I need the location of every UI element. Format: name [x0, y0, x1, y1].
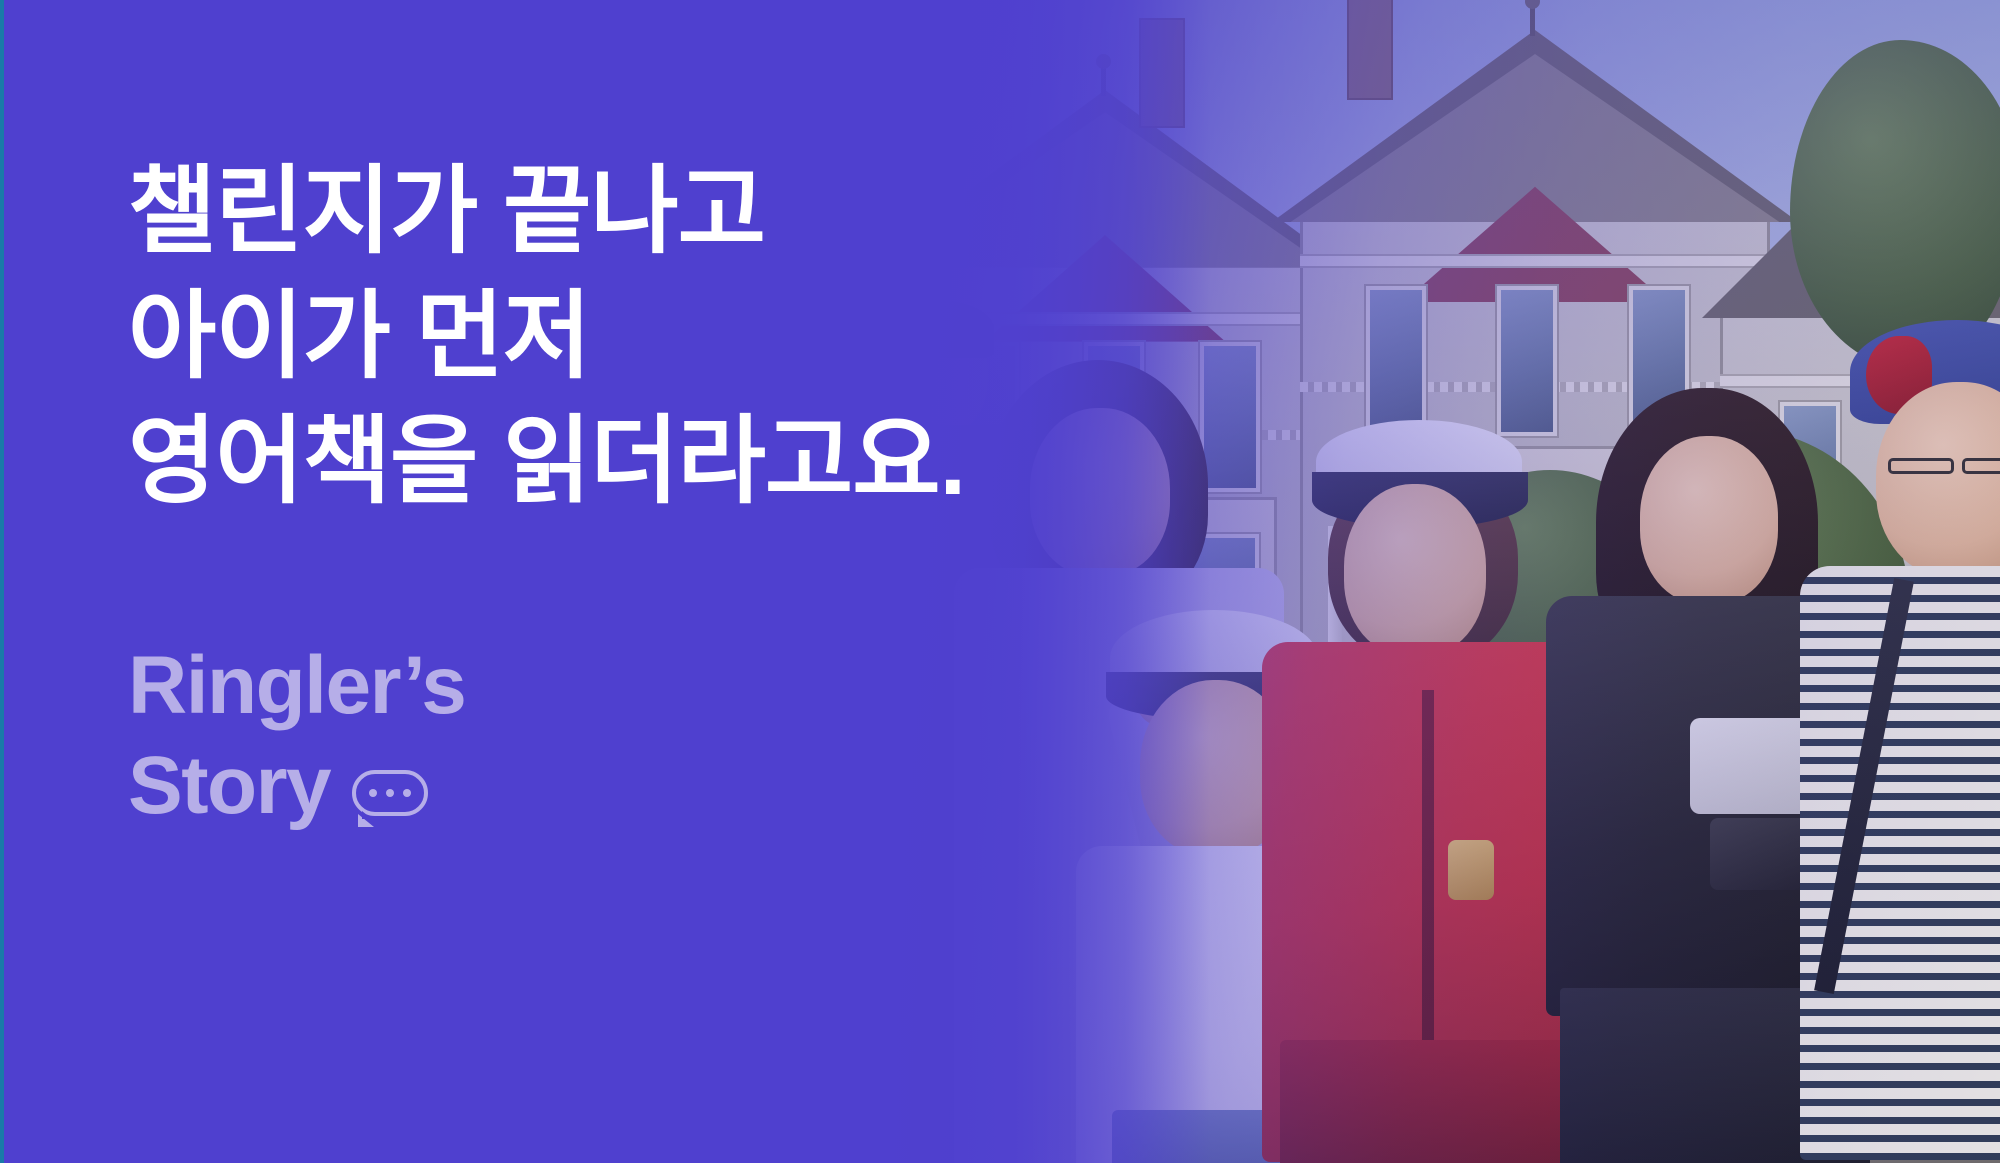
left-edge-strip	[0, 0, 4, 1163]
headline: 챌린지가 끝나고 아이가 먼저 영어책을 읽더라고요.	[128, 150, 1100, 524]
story-banner: 챌린지가 끝나고 아이가 먼저 영어책을 읽더라고요. Ringler’s St…	[0, 0, 2000, 1163]
bubble-dots	[356, 789, 424, 797]
headline-line-2: 아이가 먼저	[128, 275, 1100, 400]
brand-lockup: Ringler’s Story	[128, 636, 1100, 836]
bubble-dot-3	[403, 789, 411, 797]
speech-bubble-dots-icon	[352, 770, 428, 816]
bubble-tail-inner	[362, 811, 372, 819]
bubble-dot-2	[386, 789, 394, 797]
bubble-dot-1	[369, 789, 377, 797]
headline-line-3: 영어책을 읽더라고요.	[128, 400, 1100, 525]
text-panel: 챌린지가 끝나고 아이가 먼저 영어책을 읽더라고요. Ringler’s St…	[0, 0, 1100, 1163]
brand-line-1: Ringler’s	[128, 636, 1100, 736]
headline-line-1: 챌린지가 끝나고	[128, 150, 1100, 275]
brand-line-2-row: Story	[128, 736, 1100, 836]
brand-line-2: Story	[128, 736, 330, 836]
